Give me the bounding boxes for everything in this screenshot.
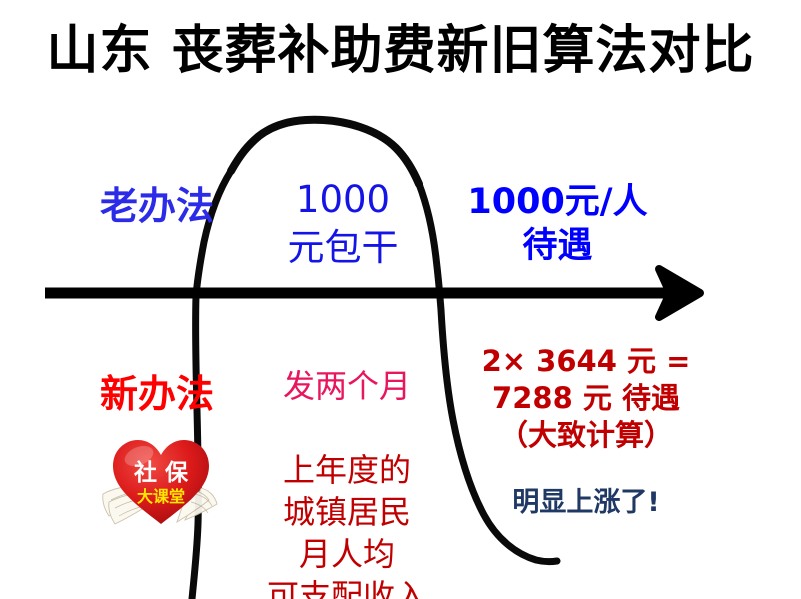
arrow-head-icon [659, 269, 700, 317]
label-new-method: 新办法 [72, 370, 242, 418]
old-method-result-text: 1000元/人 待遇 [450, 180, 665, 268]
label-old-method: 老办法 [72, 182, 242, 230]
new-method-center-first-line: 发两个月 [283, 367, 411, 405]
slide-canvas: 山东 丧葬补助费新旧算法对比 老办法 新办法 1000 元包干 1000元/人 … [0, 0, 801, 599]
social-insurance-heart-logo: 社 保 大课堂 [97, 428, 225, 538]
old-method-center-text: 1000 元包干 [248, 176, 438, 272]
new-method-conclusion-note: 明显上涨了! [462, 486, 710, 520]
new-method-result-text: 2× 3644 元 = 7288 元 待遇 （大致计算） [462, 343, 710, 454]
new-method-center-text: 发两个月 上年度的 城镇居民 月人均 可支配收入 [252, 323, 442, 599]
timeline-arrow [45, 269, 700, 317]
logo-line1: 社 保 [134, 459, 189, 486]
sketch-dome [231, 120, 419, 184]
page-title: 山东 丧葬补助费新旧算法对比 [0, 20, 801, 82]
logo-line2: 大课堂 [137, 487, 185, 506]
new-method-center-rest-lines: 上年度的 城镇居民 月人均 可支配收入 [267, 451, 427, 599]
